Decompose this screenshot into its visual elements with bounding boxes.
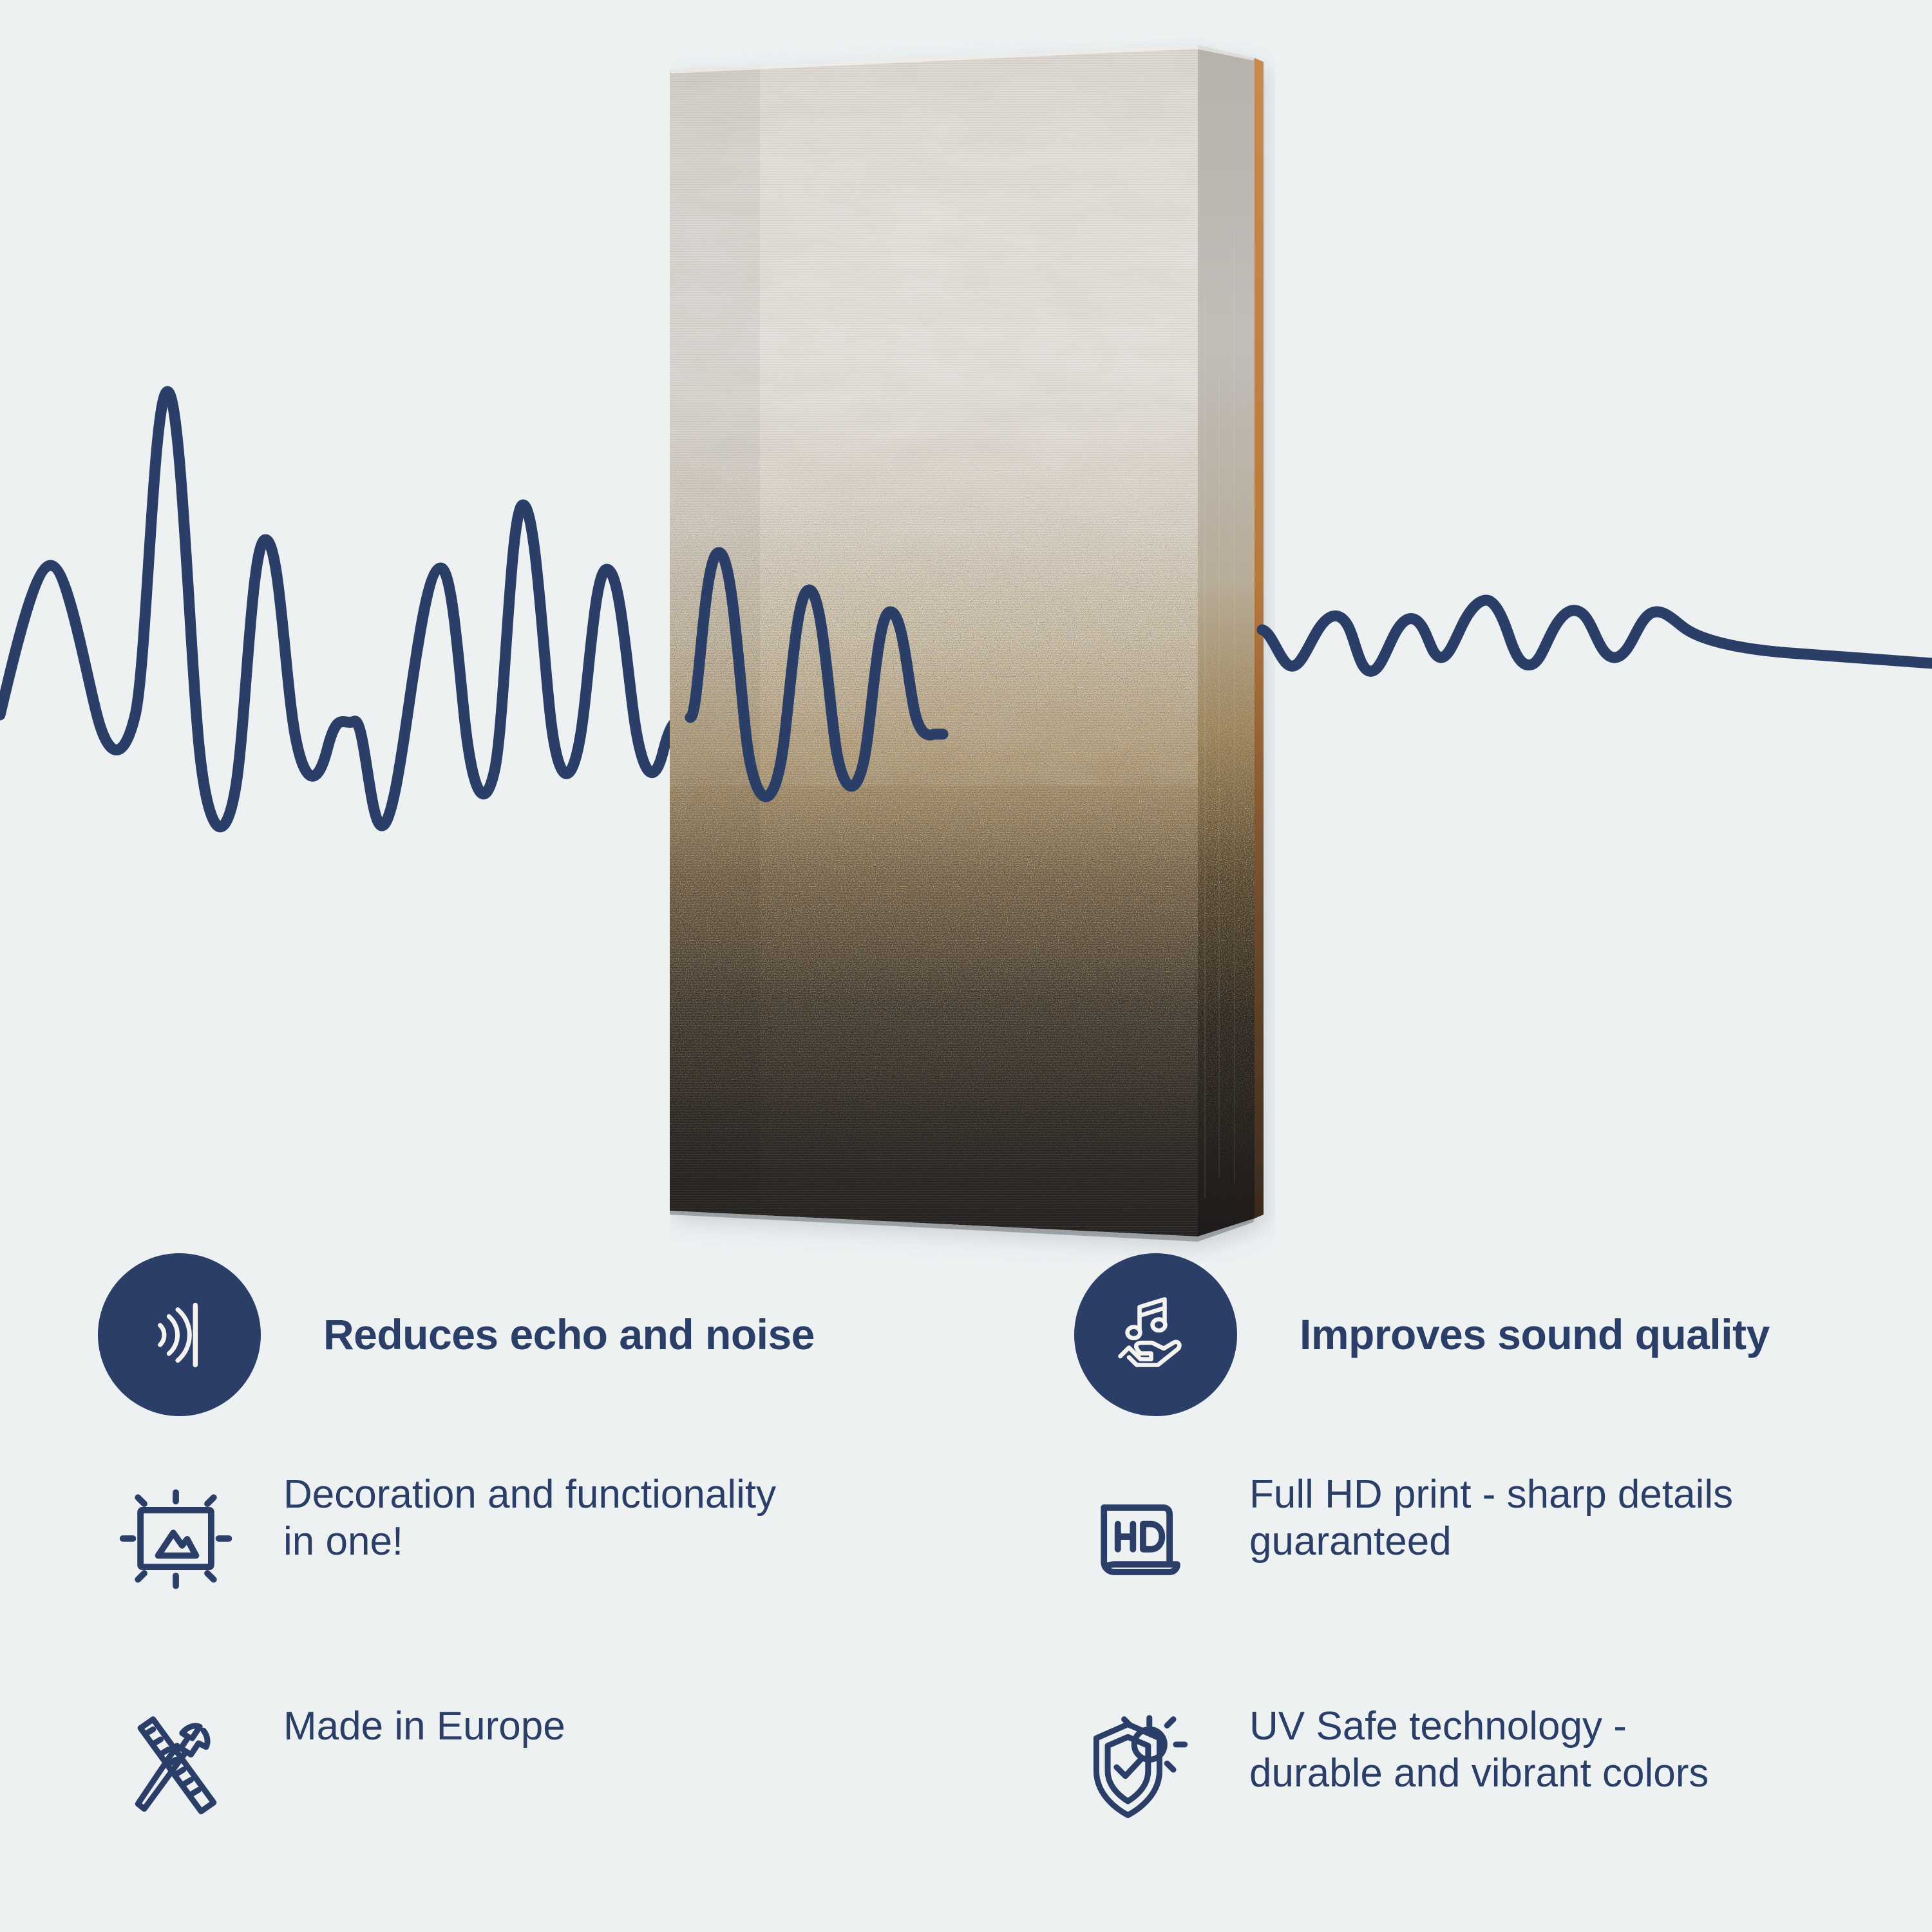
uv-shield-sun-icon bbox=[1079, 1708, 1205, 1834]
ruler-hammer-icon bbox=[113, 1708, 239, 1834]
feature-icon-wrap bbox=[108, 1472, 243, 1607]
feature-full-hd-print: Full HD print - sharp details guaranteed bbox=[1074, 1472, 1733, 1607]
feature-text: Made in Europe bbox=[283, 1703, 565, 1750]
badge-label: Improves sound quality bbox=[1300, 1312, 1770, 1357]
feature-icon-wrap bbox=[1074, 1703, 1209, 1839]
sound-waves-panel-icon bbox=[131, 1286, 229, 1384]
acoustic-canvas-print bbox=[670, 39, 1275, 1262]
framed-picture-shine-icon bbox=[113, 1476, 239, 1602]
feature-decoration-functionality: Decoration and functionality in one! bbox=[108, 1472, 776, 1607]
feature-text-line: guaranteed bbox=[1249, 1519, 1733, 1566]
badge-improves-sound: Improves sound quality bbox=[1074, 1253, 1770, 1416]
hd-page-icon bbox=[1079, 1476, 1205, 1602]
feature-text-line: in one! bbox=[283, 1519, 776, 1566]
panel-bar bbox=[193, 1302, 198, 1367]
badge-circle bbox=[98, 1253, 261, 1416]
canvas-front-face bbox=[670, 39, 1198, 1262]
feature-icon-wrap bbox=[1074, 1472, 1209, 1607]
feature-text-line: Full HD print - sharp details bbox=[1249, 1472, 1733, 1519]
canvas-frame-rim bbox=[1255, 58, 1264, 1218]
canvas-side-edge bbox=[1197, 39, 1257, 1262]
feature-text-line: Made in Europe bbox=[283, 1703, 565, 1750]
feature-text-line: UV Safe technology - bbox=[1249, 1703, 1709, 1750]
feature-uv-safe-technology: UV Safe technology - durable and vibrant… bbox=[1074, 1703, 1709, 1839]
feature-text: Decoration and functionality in one! bbox=[283, 1472, 776, 1565]
feature-text: Full HD print - sharp details guaranteed bbox=[1249, 1472, 1733, 1565]
feature-made-in-europe: Made in Europe bbox=[108, 1703, 565, 1839]
badge-label: Reduces echo and noise bbox=[323, 1312, 815, 1357]
feature-text: UV Safe technology - durable and vibrant… bbox=[1249, 1703, 1709, 1797]
feature-text-line: Decoration and functionality bbox=[283, 1472, 776, 1519]
feature-icon-wrap bbox=[108, 1703, 243, 1839]
badge-reduces-echo: Reduces echo and noise bbox=[98, 1253, 815, 1416]
feature-text-line: durable and vibrant colors bbox=[1249, 1750, 1709, 1797]
badge-circle bbox=[1074, 1253, 1237, 1416]
music-note-in-hand-icon bbox=[1108, 1287, 1204, 1383]
infographic-canvas: Reduces echo and noise Improves sound bbox=[0, 0, 1932, 1932]
